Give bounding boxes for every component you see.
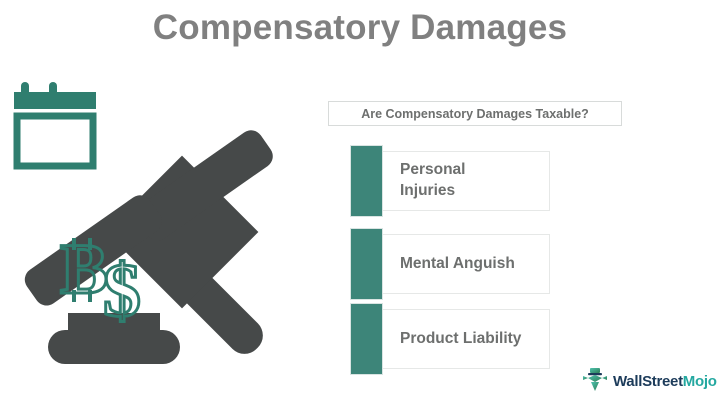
list-item[interactable]: Personal Injuries — [350, 145, 550, 217]
logo-mojo-text: Mojo — [683, 373, 717, 390]
item-swatch-icon — [350, 145, 383, 217]
compensatory-damages-illustration: B $ — [0, 58, 340, 388]
dollar-symbol-icon: $ — [103, 249, 141, 333]
slide-canvas: Compensatory Damages — [0, 0, 720, 409]
logo-wordmark: WallStreetMojo — [613, 373, 717, 390]
svg-text:$: $ — [103, 249, 141, 333]
wallstreetmojo-bull-icon — [582, 366, 608, 397]
question-text: Are Compensatory Damages Taxable? — [361, 107, 589, 121]
page-title: Compensatory Damages — [0, 8, 720, 48]
list-item-label: Personal Injuries — [400, 145, 550, 217]
item-swatch-icon — [350, 303, 383, 375]
list-item-label: Mental Anguish — [400, 228, 550, 300]
list-item-label: Product Liability — [400, 303, 550, 375]
bitcoin-symbol-icon: B — [60, 229, 108, 309]
svg-text:B: B — [60, 229, 108, 309]
logo-wall-street-text: WallStreet — [613, 373, 683, 390]
list-item[interactable]: Product Liability — [350, 303, 550, 375]
question-box: Are Compensatory Damages Taxable? — [328, 101, 622, 126]
wallstreetmojo-logo[interactable]: WallStreetMojo — [582, 366, 717, 396]
calendar-icon — [14, 82, 96, 166]
list-item[interactable]: Mental Anguish — [350, 228, 550, 300]
item-swatch-icon — [350, 228, 383, 300]
